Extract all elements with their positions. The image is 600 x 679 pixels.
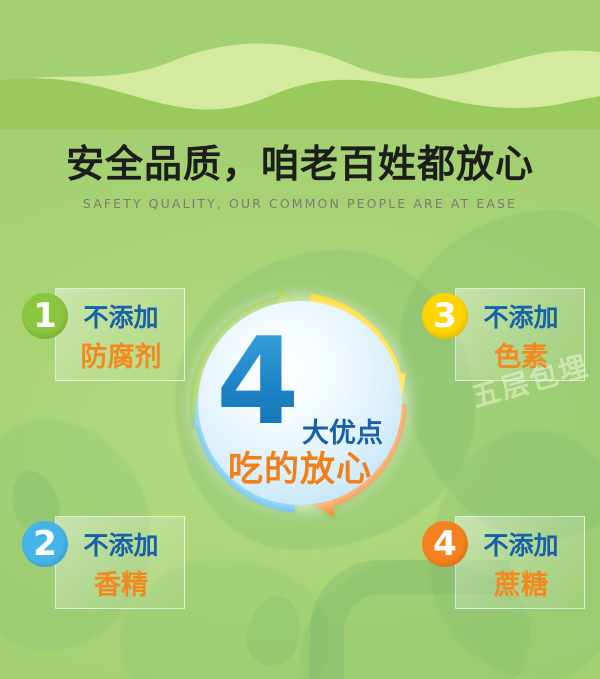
page-subtitle: SAFETY QUALITY, OUR COMMON PEOPLE ARE AT…: [0, 196, 600, 211]
feature-badge-1: 1: [22, 293, 68, 339]
promo-banner: 五层包埋 安全品质，咱老百姓都放心 SAFETY QUALITY, OUR CO…: [0, 0, 600, 679]
advantage-count: 4: [216, 323, 300, 443]
feature-badge-4: 4: [422, 521, 468, 567]
feature-4-line1: 不添加: [456, 526, 586, 562]
feature-3-line1: 不添加: [456, 298, 586, 334]
feature-badge-3: 3: [422, 293, 468, 339]
feature-1-line2: 防腐剂: [56, 335, 186, 374]
center-content: 4 大优点 吃的放心: [198, 301, 402, 505]
feature-panel-4: 不添加 蔗糖: [455, 516, 585, 609]
feature-panel-1: 不添加 防腐剂: [55, 288, 185, 381]
page-title: 安全品质，咱老百姓都放心: [0, 143, 600, 187]
feature-panel-3: 不添加 色素: [455, 288, 585, 381]
center-tagline: 吃的放心: [212, 441, 388, 492]
feature-badge-2: 2: [22, 521, 68, 567]
feature-2-line1: 不添加: [56, 526, 186, 562]
feature-panel-2: 不添加 香精: [55, 516, 185, 609]
feature-3-line2: 色素: [456, 335, 586, 374]
feature-4-line2: 蔗糖: [456, 563, 586, 602]
feature-2-line2: 香精: [56, 563, 186, 602]
header-wave-decoration: [0, 0, 600, 130]
feature-1-line1: 不添加: [56, 298, 186, 334]
